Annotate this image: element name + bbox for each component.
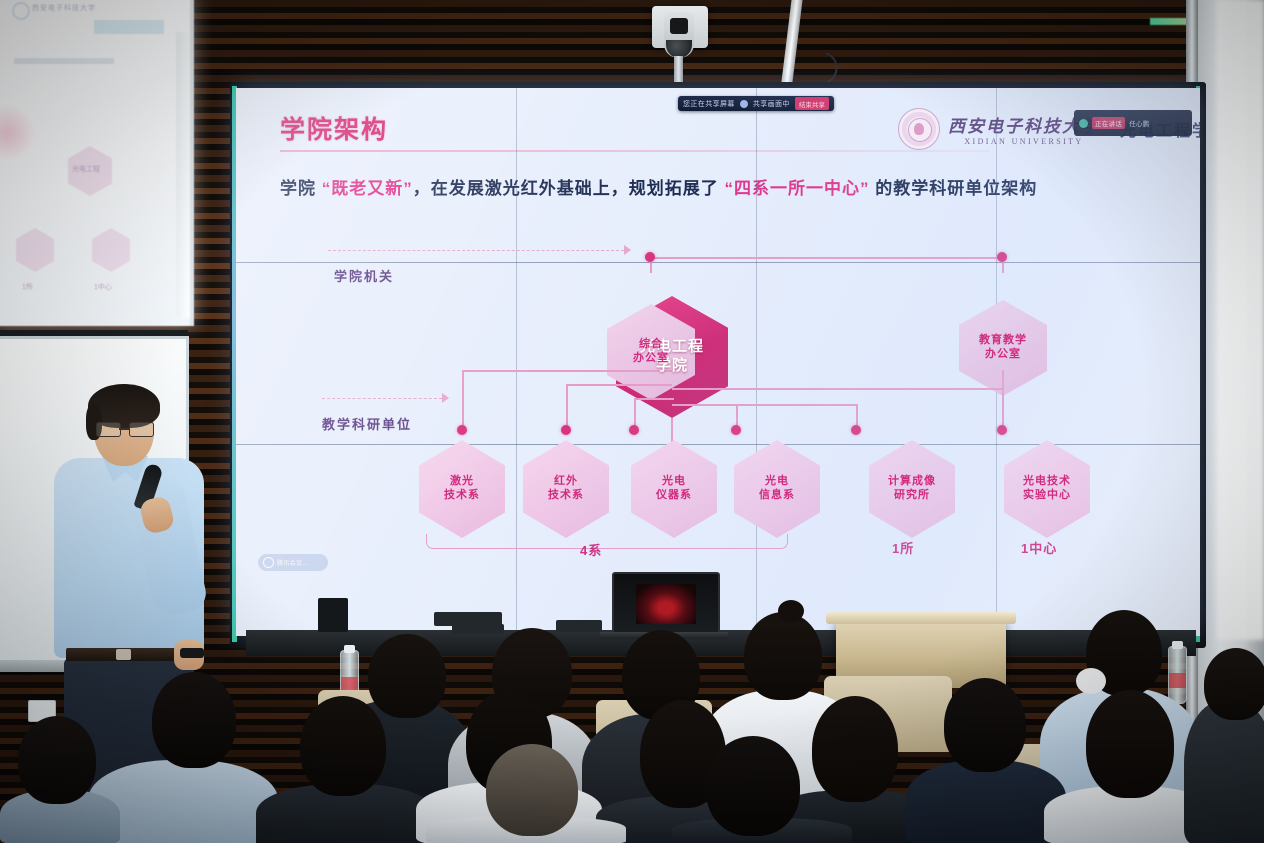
audience-head-gray — [486, 744, 578, 836]
tier2-row-label: 学院机关 — [334, 266, 394, 285]
connector-rail-center — [634, 398, 674, 400]
node-dot-instrument — [629, 425, 639, 435]
bottle-label-right — [1169, 673, 1186, 688]
projection-screen: 学院架构 学院 “既老又新”，在发展激光红外基础上，规划拓展了 “四系一所一中心… — [236, 88, 1200, 636]
audience-head — [1204, 648, 1264, 720]
connector-drop-center — [1002, 370, 1004, 430]
clock-icon — [263, 557, 274, 568]
speaker-box — [318, 598, 348, 632]
optoelectronic-lab-line1: 光电技术 — [1023, 475, 1071, 489]
connector-rail-left-2 — [566, 384, 672, 386]
bottle-cap-right — [1172, 641, 1183, 649]
presentation-clicker — [180, 648, 204, 658]
av-equipment-2 — [452, 624, 504, 634]
imaging-institute-line2: 研究所 — [894, 489, 930, 503]
speaker-icon — [740, 100, 748, 108]
audience-head — [18, 716, 96, 804]
connector-root-right — [714, 257, 1004, 259]
water-bottle-right — [1168, 646, 1187, 704]
connector-drop-infrared — [566, 384, 568, 430]
audience-head — [152, 672, 236, 768]
glasses-lens-right — [129, 422, 154, 437]
tier2-dashed-line — [328, 250, 624, 251]
microphone-active-icon — [1079, 119, 1088, 128]
aux-screen-header: 西安电子科技大学 — [12, 2, 132, 18]
group-label-departments: 4系 — [580, 540, 602, 559]
aux-blur-blob — [0, 104, 36, 162]
education-office-line1: 教育教学 — [979, 334, 1027, 348]
presenter-laptop — [612, 572, 720, 638]
general-office-line2: 办公室 — [633, 352, 669, 366]
window-glare — [1216, 0, 1264, 640]
group-label-center: 1中心 — [1021, 538, 1057, 557]
node-dot-education — [997, 252, 1007, 262]
share-status-text: 您正在共享屏幕 — [683, 99, 735, 109]
aux-hex-left — [16, 228, 54, 272]
aux-root-label: 光电工程 — [72, 164, 100, 174]
connector-rail-left-1 — [462, 370, 672, 372]
node-dot-infrared — [561, 425, 571, 435]
audience-body — [1184, 700, 1264, 843]
imaging-institute-line1: 计算成像 — [888, 475, 936, 489]
connector-rail-right-1 — [672, 388, 858, 390]
glasses-lens-left — [96, 422, 121, 437]
audience-body — [906, 760, 1066, 843]
glasses-bridge — [119, 428, 129, 430]
university-name-en: XIDIAN UNIVERSITY — [948, 137, 1100, 146]
node-dot-center — [997, 425, 1007, 435]
departments-brace — [426, 534, 788, 549]
tier3-arrow-icon — [442, 393, 449, 403]
presenter-glasses — [96, 422, 152, 435]
subtitle-highlight-2: “四系一所一中心” — [724, 179, 869, 198]
audience-head — [300, 696, 386, 796]
presenter-belt-buckle — [116, 649, 131, 660]
subtitle-highlight-1: “既老又新” — [322, 179, 413, 198]
org-node-instrument-dept[interactable]: 光电 仪器系 — [631, 440, 717, 538]
subtitle-seg-3: 的教学科研单位架构 — [869, 179, 1037, 198]
laser-dept-line2: 技术系 — [444, 489, 480, 503]
title-underline — [280, 150, 990, 152]
speaking-tag: 正在讲话 — [1092, 117, 1125, 129]
laptop-wallpaper — [636, 584, 696, 624]
cable-bundle — [556, 620, 602, 632]
group-label-institute: 1所 — [892, 538, 914, 557]
subtitle-seg-1: 学院 — [280, 179, 322, 198]
aux-hex-right — [92, 228, 130, 272]
tier3-dashed-line — [322, 398, 442, 399]
meeting-watermark-badge: 腾讯会议... — [258, 554, 328, 571]
share-active-text: 共享画面中 — [753, 99, 790, 109]
org-node-information-dept[interactable]: 光电 信息系 — [734, 440, 820, 538]
end-share-button[interactable]: 结束共享 — [795, 97, 829, 110]
information-dept-line1: 光电 — [765, 475, 789, 489]
node-dot-institute — [851, 425, 861, 435]
instrument-dept-line1: 光电 — [662, 475, 686, 489]
aux-university-name: 西安电子科技大学 — [32, 3, 96, 13]
screen-share-status-bar[interactable]: 您正在共享屏幕 共享画面中 结束共享 — [678, 96, 834, 111]
subtitle-seg-2: ，在发展激光红外基础上，规划拓展了 — [413, 179, 725, 198]
audience-head — [706, 736, 800, 836]
node-dot-information — [731, 425, 741, 435]
auxiliary-screen: 西安电子科技大学 光电工程 1所 1中心 — [0, 0, 194, 326]
audience-head — [368, 634, 446, 718]
aux-title-line — [14, 58, 114, 64]
aux-overlay-band — [94, 20, 164, 34]
audience-head — [744, 612, 822, 700]
tier2-arrow-icon — [624, 245, 631, 255]
connector-rail-right-2 — [672, 404, 856, 406]
laser-dept-line1: 激光 — [450, 475, 474, 489]
tier3-row-label: 教学科研单位 — [322, 414, 412, 433]
connector-drop-laser — [462, 370, 464, 430]
connector-rail-far-right — [856, 388, 1004, 390]
camera-lens-icon — [670, 18, 688, 34]
node-dot-laser — [457, 425, 467, 435]
aux-group-institute: 1所 — [22, 282, 33, 292]
infrared-dept-line2: 技术系 — [548, 489, 584, 503]
bottle-cap-left — [344, 645, 355, 653]
audience-head — [1086, 690, 1174, 798]
aux-group-center: 1中心 — [94, 282, 112, 292]
infrared-dept-line1: 红外 — [554, 475, 578, 489]
audience-hair-bun — [778, 600, 804, 622]
aux-screen-edge — [176, 32, 192, 318]
general-office-line1: 综合 — [639, 338, 663, 352]
org-node-infrared-dept[interactable]: 红外 技术系 — [523, 440, 609, 538]
university-seal-icon — [898, 108, 940, 150]
slide-title: 学院架构 — [280, 110, 388, 146]
podium-top — [826, 612, 1016, 624]
information-dept-line2: 信息系 — [759, 489, 795, 503]
org-node-imaging-institute[interactable]: 计算成像 研究所 — [869, 440, 955, 538]
optoelectronic-lab-line2: 实验中心 — [1023, 489, 1071, 503]
hair-tie-icon — [1076, 668, 1106, 694]
slide-subtitle: 学院 “既老又新”，在发展激光红外基础上，规划拓展了 “四系一所一中心” 的教学… — [280, 174, 1160, 199]
lecture-hall-photo: 西安电子科技大学 光电工程 1所 1中心 学院架构 学院 “既老又新”，在发展激… — [0, 0, 1264, 843]
node-dot-office — [645, 252, 655, 262]
education-office-line2: 办公室 — [985, 348, 1021, 362]
instrument-dept-line2: 仪器系 — [656, 489, 692, 503]
org-node-laser-dept[interactable]: 激光 技术系 — [419, 440, 505, 538]
watermark-text: 腾讯会议... — [277, 558, 308, 567]
active-speaker-badge: 正在讲话 任心鹏 — [1074, 110, 1192, 136]
audience-head — [944, 678, 1026, 772]
speaker-name: 任心鹏 — [1129, 118, 1149, 128]
presentation-slide: 学院架构 学院 “既老又新”，在发展激光红外基础上，规划拓展了 “四系一所一中心… — [236, 88, 1200, 636]
audience-head — [812, 696, 898, 802]
org-node-optoelectronic-lab[interactable]: 光电技术 实验中心 — [1004, 440, 1090, 538]
aux-university-logo-icon — [12, 2, 30, 20]
